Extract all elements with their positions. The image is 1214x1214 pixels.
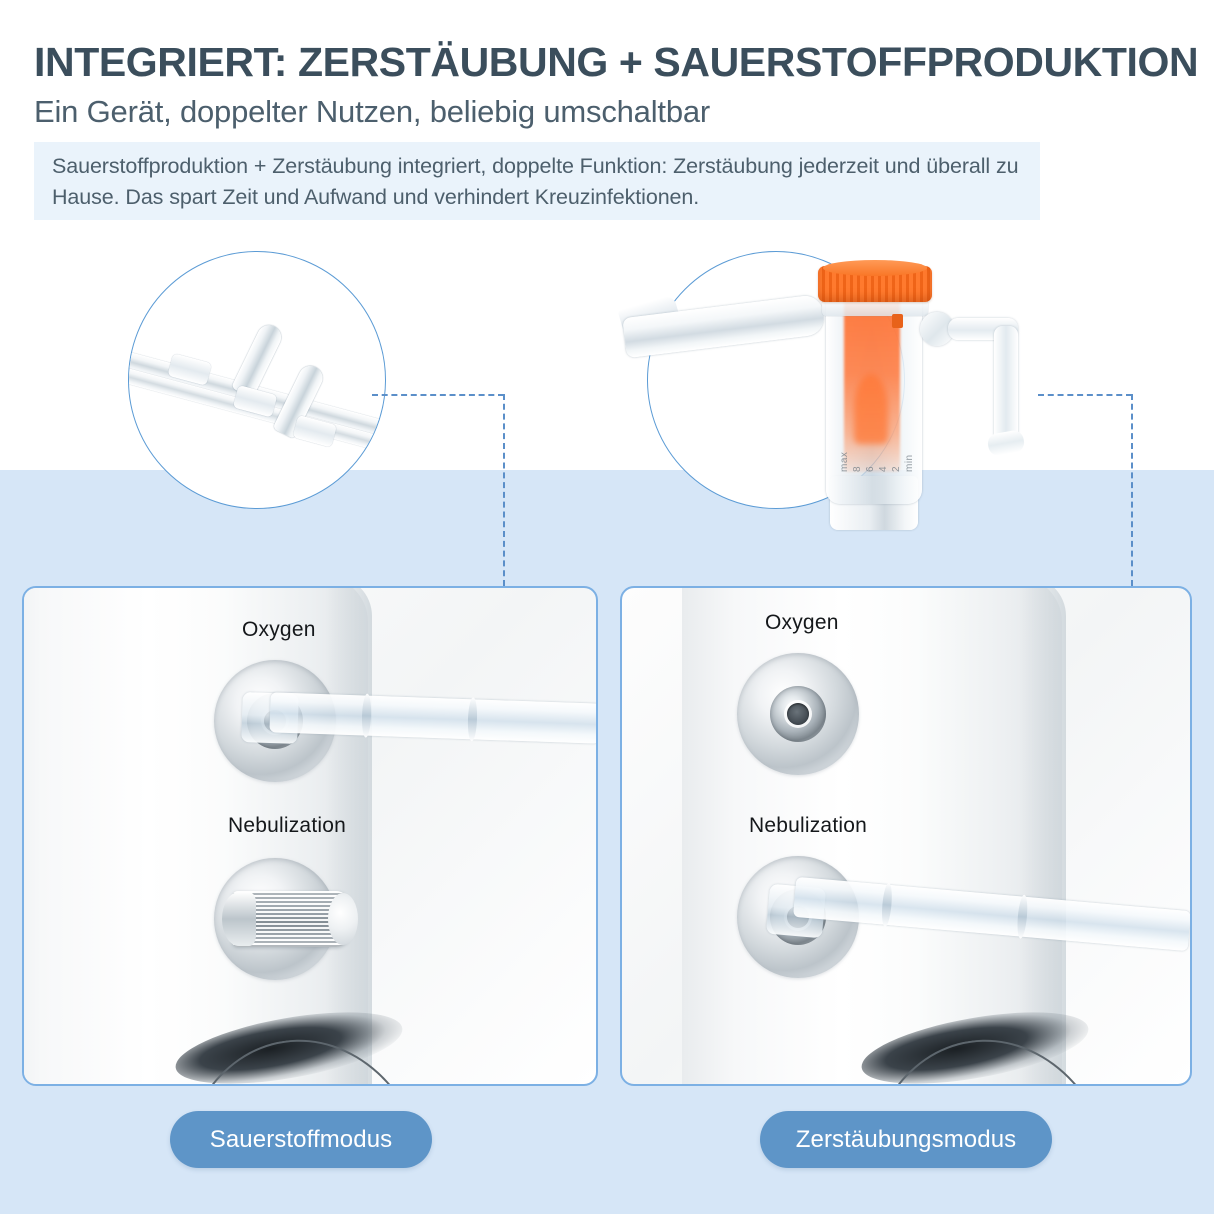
page-subtitle: Ein Gerät, doppelter Nutzen, beliebig um… <box>34 92 1134 132</box>
oxygen-port-nipple <box>770 686 826 742</box>
scale-mark: 6 <box>864 400 877 472</box>
device-body <box>682 586 1062 1086</box>
callout-circle-cannula <box>128 251 386 509</box>
panel-nebulization-mode: Oxygen Nebulization <box>620 586 1192 1086</box>
tube-ring <box>1016 894 1029 939</box>
label-nebulization-port: Nebulization <box>749 814 867 838</box>
label-nebulization-port: Nebulization <box>228 814 346 838</box>
cannula-art <box>129 252 386 509</box>
nasal-cannula-icon <box>128 263 386 509</box>
infographic-root: INTEGRIERT: ZERSTÄUBUNG + SAUERSTOFFPROD… <box>0 0 1214 1214</box>
scale-mark: min <box>903 400 916 472</box>
oxygen-port-hole <box>787 703 809 725</box>
description-box: Sauerstoffproduktion + Zerstäubung integ… <box>34 142 1040 220</box>
connector-line-right-vertical <box>1131 394 1133 586</box>
nebulizer-cup-collar <box>822 300 928 316</box>
button-oxygen-mode[interactable]: Sauerstoffmodus <box>170 1111 432 1168</box>
tube-ring <box>467 697 478 741</box>
scale-mark: max <box>838 400 851 472</box>
connector-line-right-horizontal <box>1038 394 1132 396</box>
cap-end <box>328 893 358 945</box>
tube-ring <box>881 882 894 927</box>
description-text: Sauerstoffproduktion + Zerstäubung integ… <box>52 151 1027 213</box>
nebulizer-cup-icon: max 8 6 4 2 min <box>620 250 1060 540</box>
page-title: INTEGRIERT: ZERSTÄUBUNG + SAUERSTOFFPROD… <box>34 37 1184 87</box>
scale-mark: 8 <box>851 400 864 472</box>
scale-mark: 4 <box>877 400 890 472</box>
nebulizer-cap-top <box>823 260 927 276</box>
oxygen-port-plate <box>737 653 859 775</box>
nebulizer-elbow-downpipe <box>994 326 1018 446</box>
nebulizer-cup-body <box>826 294 922 504</box>
nebulizer-scale-marks: max 8 6 4 2 min <box>838 400 910 472</box>
nebulizer-art: max 8 6 4 2 min <box>620 250 1060 540</box>
nebulizer-cap-nib <box>892 314 903 328</box>
scale-mark: 2 <box>890 400 903 472</box>
cap-collar <box>222 892 256 946</box>
panel-oxygen-mode: Oxygen Nebulization <box>22 586 598 1086</box>
label-oxygen-port: Oxygen <box>765 611 839 635</box>
label-oxygen-port: Oxygen <box>242 618 316 642</box>
nebulizer-elbow-tip <box>986 429 1025 457</box>
button-nebulization-mode[interactable]: Zerstäubungsmodus <box>760 1111 1052 1168</box>
nebulization-port-cap <box>232 891 350 947</box>
connector-line-left-vertical <box>503 394 505 586</box>
tube-ring <box>361 693 372 737</box>
connector-line-left-horizontal <box>372 394 504 396</box>
